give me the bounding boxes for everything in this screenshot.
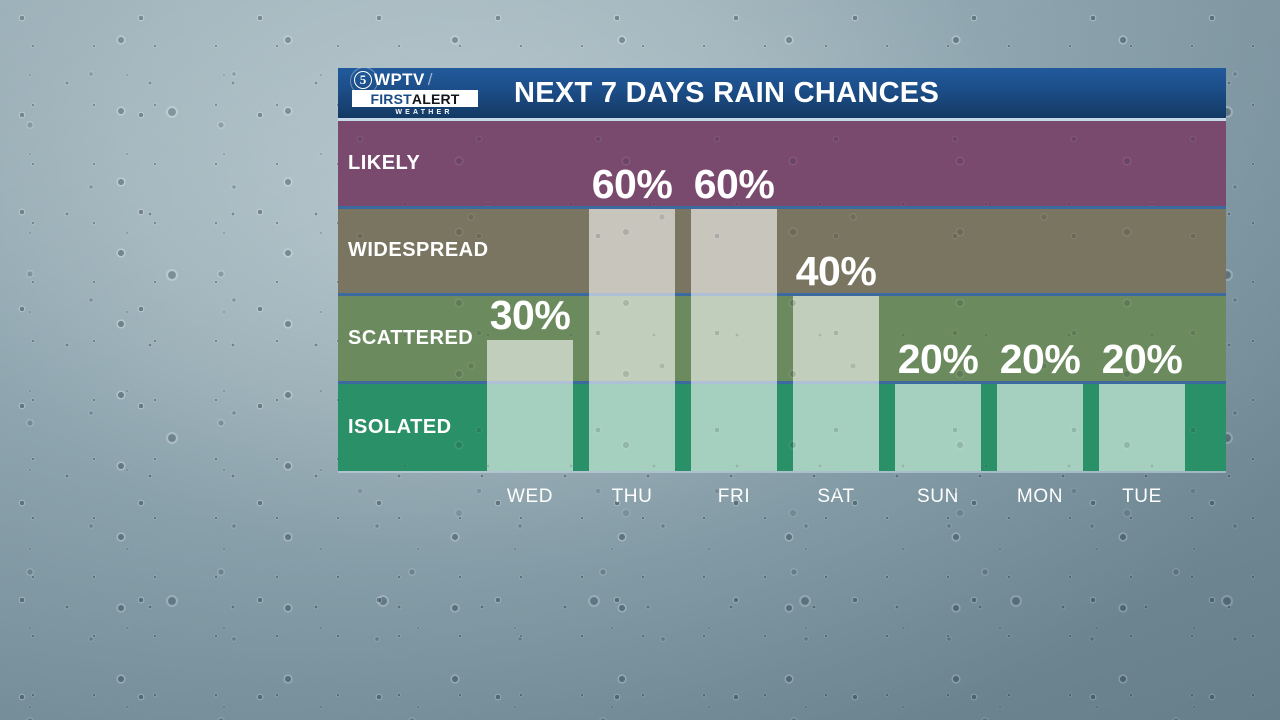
weather-graphic-stage: 5 WPTV / FIRST ALERT WEATHER NEXT 7 DAYS… (0, 0, 1280, 720)
day-label-wed: WED (487, 486, 573, 508)
page-title: NEXT 7 DAYS RAIN CHANCES (514, 77, 939, 110)
logo-first-text: FIRST (370, 92, 411, 106)
bar-sat (793, 296, 879, 471)
band-label: SCATTERED (338, 327, 473, 350)
day-label-thu: THU (589, 486, 675, 508)
channel-5-circle-icon: 5 (354, 71, 372, 89)
bar-fri (691, 209, 777, 472)
bar-wed (487, 340, 573, 471)
bar-value-tue: 20% (1088, 339, 1196, 380)
bar-thu (589, 209, 675, 472)
bar-value-sat: 40% (782, 251, 890, 292)
bar-value-sun: 20% (884, 339, 992, 380)
bar-sun (895, 384, 981, 472)
bar-value-fri: 60% (680, 164, 788, 205)
logo-alert-text: ALERT (412, 92, 460, 106)
axis-droplet-overlay (338, 473, 1226, 519)
band-label: ISOLATED (338, 416, 452, 439)
day-label-sat: SAT (793, 486, 879, 508)
bar-value-thu: 60% (578, 164, 686, 205)
wptv-first-alert-weather-logo: 5 WPTV / FIRST ALERT WEATHER (352, 70, 478, 116)
day-label-mon: MON (997, 486, 1083, 508)
channel-number: 5 (360, 73, 367, 86)
panel-header: 5 WPTV / FIRST ALERT WEATHER NEXT 7 DAYS… (338, 68, 1226, 121)
station-callsign: WPTV (374, 71, 425, 88)
bar-value-mon: 20% (986, 339, 1094, 380)
bar-tue (1099, 384, 1185, 472)
bar-mon (997, 384, 1083, 472)
logo-slash-icon: / (428, 71, 433, 88)
band-label: WIDESPREAD (338, 239, 489, 262)
logo-top-row: 5 WPTV / (352, 70, 478, 89)
bar-value-wed: 30% (476, 295, 584, 336)
rain-chance-chart: LIKELYWIDESPREADSCATTEREDISOLATED 30%60%… (338, 121, 1226, 471)
rain-chances-panel: 5 WPTV / FIRST ALERT WEATHER NEXT 7 DAYS… (338, 68, 1226, 522)
day-label-tue: TUE (1099, 486, 1185, 508)
logo-weather-text: WEATHER (352, 109, 478, 116)
band-label: LIKELY (338, 152, 420, 175)
day-label-fri: FRI (691, 486, 777, 508)
day-axis: WEDTHUFRISATSUNMONTUE (338, 471, 1226, 519)
day-label-sun: SUN (895, 486, 981, 508)
